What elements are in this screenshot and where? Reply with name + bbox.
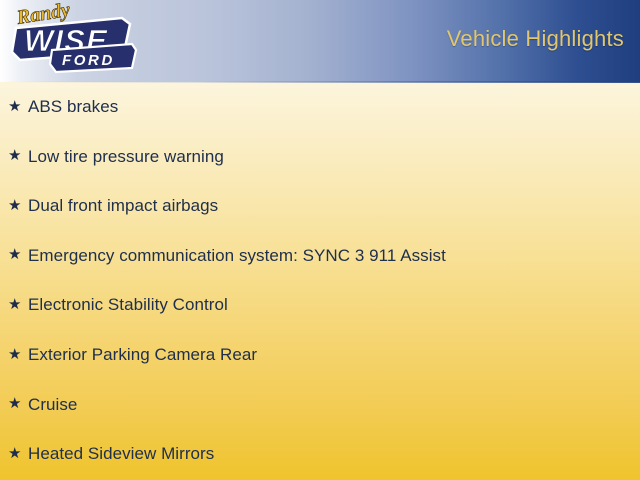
highlight-item: ★Dual front impact airbags xyxy=(8,193,218,219)
highlight-item-label: Exterior Parking Camera Rear xyxy=(28,345,257,365)
highlight-item: ★Exterior Parking Camera Rear xyxy=(8,342,257,368)
highlight-item: ★Low tire pressure warning xyxy=(8,144,224,170)
star-bullet-icon: ★ xyxy=(8,446,28,461)
logo-ford-text: FORD xyxy=(62,52,115,69)
highlight-item: ★ABS brakes xyxy=(8,94,118,120)
star-bullet-icon: ★ xyxy=(8,99,28,114)
vehicle-highlights-list: ★ABS brakes★Low tire pressure warning★Du… xyxy=(0,82,640,480)
highlight-item-label: Electronic Stability Control xyxy=(28,295,228,315)
highlight-item: ★Cruise xyxy=(8,392,77,418)
highlight-item-label: Dual front impact airbags xyxy=(28,196,218,216)
highlight-item-label: Cruise xyxy=(28,395,77,415)
vehicle-highlights-slide: WISE FORD Randy Vehicle Highlights ★ABS … xyxy=(0,0,640,480)
randy-wise-ford-logo: WISE FORD Randy xyxy=(4,0,144,76)
star-bullet-icon: ★ xyxy=(8,148,28,163)
highlight-item-label: Low tire pressure warning xyxy=(28,147,224,167)
highlight-item-label: Emergency communication system: SYNC 3 9… xyxy=(28,246,446,266)
highlight-item-label: Heated Sideview Mirrors xyxy=(28,444,214,464)
highlight-item: ★Electronic Stability Control xyxy=(8,292,228,318)
star-bullet-icon: ★ xyxy=(8,247,28,262)
highlight-item: ★Emergency communication system: SYNC 3 … xyxy=(8,243,446,269)
star-bullet-icon: ★ xyxy=(8,347,28,362)
star-bullet-icon: ★ xyxy=(8,297,28,312)
star-bullet-icon: ★ xyxy=(8,198,28,213)
star-bullet-icon: ★ xyxy=(8,396,28,411)
highlight-item: ★Heated Sideview Mirrors xyxy=(8,441,214,467)
page-title: Vehicle Highlights xyxy=(447,26,624,52)
highlight-item-label: ABS brakes xyxy=(28,97,118,117)
header-bar: WISE FORD Randy Vehicle Highlights xyxy=(0,0,640,82)
